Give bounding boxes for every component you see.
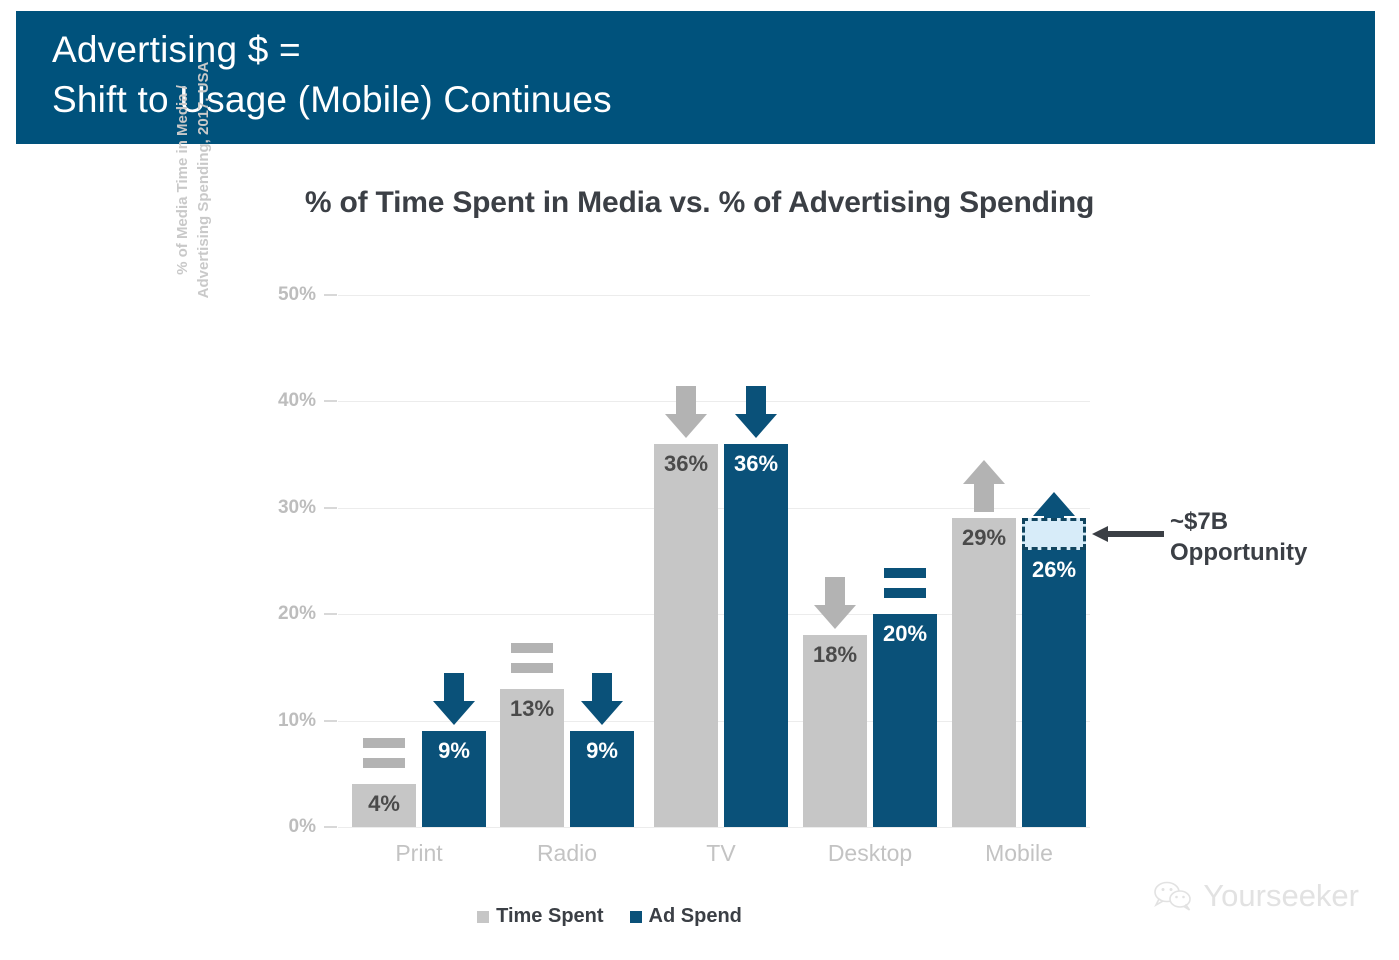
- bar-group-desktop: 18%20%Desktop: [803, 295, 937, 827]
- bar-value-label: 26%: [1022, 557, 1086, 583]
- y-axis-tick-mark: [324, 720, 337, 722]
- bar-desktop-time-spent[interactable]: 18%: [803, 635, 867, 827]
- trend-down-icon: [663, 384, 709, 440]
- bar-value-label: 9%: [422, 738, 486, 764]
- gridline: [338, 827, 1090, 828]
- y-axis-tick-mark: [324, 613, 337, 615]
- x-axis-category-label-radio: Radio: [500, 840, 634, 867]
- y-axis-tick-mark: [324, 294, 337, 296]
- bar-radio-time-spent[interactable]: 13%: [500, 689, 564, 827]
- bar-print-ad-spend[interactable]: 9%: [422, 731, 486, 827]
- legend-item-time-spent[interactable]: Time Spent: [477, 905, 603, 928]
- bar-value-label: 20%: [873, 621, 937, 647]
- y-axis-tick-label: 20%: [258, 603, 316, 625]
- bar-mobile-time-spent[interactable]: 29%: [952, 518, 1016, 827]
- bar-group-print: 4%9%Print: [352, 295, 486, 827]
- bar-print-time-spent[interactable]: 4%: [352, 784, 416, 827]
- trend-down-icon: [579, 671, 625, 727]
- trend-equal-icon: [882, 554, 928, 610]
- bar-mobile-ad-spend[interactable]: 26%: [1022, 550, 1086, 827]
- chart-legend: Time SpentAd Spend: [0, 905, 1309, 928]
- bar-value-label: 36%: [724, 451, 788, 477]
- y-axis-tick-mark: [324, 400, 337, 402]
- wechat-icon: [1153, 880, 1193, 912]
- y-axis-tick-label: 0%: [258, 816, 316, 838]
- opportunity-arrow-icon: [1092, 523, 1164, 550]
- watermark-label: Yourseeker: [1203, 878, 1359, 914]
- y-axis-tick-mark: [324, 507, 337, 509]
- bar-value-label: 9%: [570, 738, 634, 764]
- legend-label: Time Spent: [496, 905, 603, 928]
- y-axis-title: % of Media Time in Media / Advertising S…: [172, 30, 232, 330]
- x-axis-category-label-mobile: Mobile: [952, 840, 1086, 867]
- trend-down-icon: [431, 671, 477, 727]
- bar-group-radio: 13%9%Radio: [500, 295, 634, 827]
- y-axis-tick-label: 30%: [258, 497, 316, 519]
- bar-value-label: 18%: [803, 642, 867, 668]
- legend-label: Ad Spend: [649, 905, 742, 928]
- y-axis-tick-label: 10%: [258, 710, 316, 732]
- watermark: Yourseeker: [1153, 878, 1359, 914]
- bar-value-label: 29%: [952, 525, 1016, 551]
- chart-plot-area: % of Media Time in Media / Advertising S…: [0, 0, 1399, 960]
- opportunity-annotation: ~$7BOpportunity: [1170, 506, 1307, 568]
- bar-value-label: 36%: [654, 451, 718, 477]
- opportunity-amount-label: ~$7B: [1170, 506, 1307, 537]
- opportunity-box: [1022, 518, 1086, 550]
- legend-swatch-icon: [477, 911, 489, 923]
- trend-down-icon: [812, 575, 858, 631]
- bar-value-label: 13%: [500, 696, 564, 722]
- bar-group-tv: 36%36%TV: [654, 295, 788, 827]
- y-axis-tick-label: 50%: [258, 284, 316, 306]
- trend-up-icon: [961, 458, 1007, 514]
- bar-radio-ad-spend[interactable]: 9%: [570, 731, 634, 827]
- bar-tv-time-spent[interactable]: 36%: [654, 444, 718, 827]
- bar-value-label: 4%: [352, 791, 416, 817]
- y-axis-tick-label: 40%: [258, 390, 316, 412]
- x-axis-category-label-tv: TV: [654, 840, 788, 867]
- x-axis-category-label-print: Print: [352, 840, 486, 867]
- bar-group-mobile: 29%26%Mobile: [952, 295, 1086, 827]
- trend-down-icon: [733, 384, 779, 440]
- x-axis-category-label-desktop: Desktop: [803, 840, 937, 867]
- trend-equal-icon: [509, 629, 555, 685]
- y-axis-title-line-1: % of Media Time in Media /: [172, 30, 193, 330]
- opportunity-label: Opportunity: [1170, 537, 1307, 568]
- legend-swatch-icon: [630, 911, 642, 923]
- legend-item-ad-spend[interactable]: Ad Spend: [630, 905, 742, 928]
- trend-equal-icon: [361, 724, 407, 780]
- y-axis-tick-mark: [324, 826, 337, 828]
- y-axis-title-line-2: Advertising Spending, 2017, USA: [193, 30, 214, 330]
- bar-desktop-ad-spend[interactable]: 20%: [873, 614, 937, 827]
- bar-tv-ad-spend[interactable]: 36%: [724, 444, 788, 827]
